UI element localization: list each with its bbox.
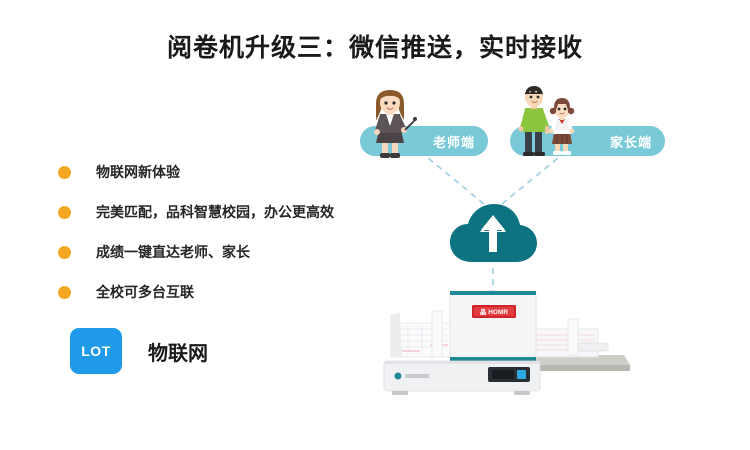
svg-text:晶 HOMR: 晶 HOMR xyxy=(480,307,508,316)
pill-parent[interactable]: 家长端 xyxy=(510,126,665,156)
slide-canvas: 阅卷机升级三：微信推送，实时接收 物联网新体验 完美匹配，品科智慧校园，办公更高… xyxy=(0,0,750,450)
lot-badge: LOT xyxy=(70,328,122,374)
omr-scanner-machine: 晶 HOMR xyxy=(372,283,632,403)
iot-badge-block: LOT 物联网 xyxy=(70,328,208,374)
pill-teacher-label: 老师端 xyxy=(433,132,475,151)
architecture-diagram: 老师端 xyxy=(350,88,680,418)
bullet-dot-icon xyxy=(58,206,71,219)
list-item: 物联网新体验 xyxy=(58,152,358,192)
bullet-dot-icon xyxy=(58,286,71,299)
bullet-dot-icon xyxy=(58,166,71,179)
list-item: 完美匹配，品科智慧校园，办公更高效 xyxy=(58,192,358,232)
pill-parent-label: 家长端 xyxy=(610,132,652,151)
list-item-label: 成绩一键直达老师、家长 xyxy=(96,242,250,262)
pill-teacher[interactable]: 老师端 xyxy=(360,126,488,156)
page-title: 阅卷机升级三：微信推送，实时接收 xyxy=(0,28,750,64)
cloud-upload-icon xyxy=(448,200,538,266)
bullet-dot-icon xyxy=(58,246,71,259)
list-item: 全校可多台互联 xyxy=(58,272,358,312)
list-item-label: 物联网新体验 xyxy=(96,162,180,182)
feature-bullet-list: 物联网新体验 完美匹配，品科智慧校园，办公更高效 成绩一键直达老师、家长 全校可… xyxy=(58,152,358,312)
list-item-label: 全校可多台互联 xyxy=(96,282,194,302)
list-item-label: 完美匹配，品科智慧校园，办公更高效 xyxy=(96,202,334,222)
list-item: 成绩一键直达老师、家长 xyxy=(58,232,358,272)
iot-label: 物联网 xyxy=(148,337,208,366)
